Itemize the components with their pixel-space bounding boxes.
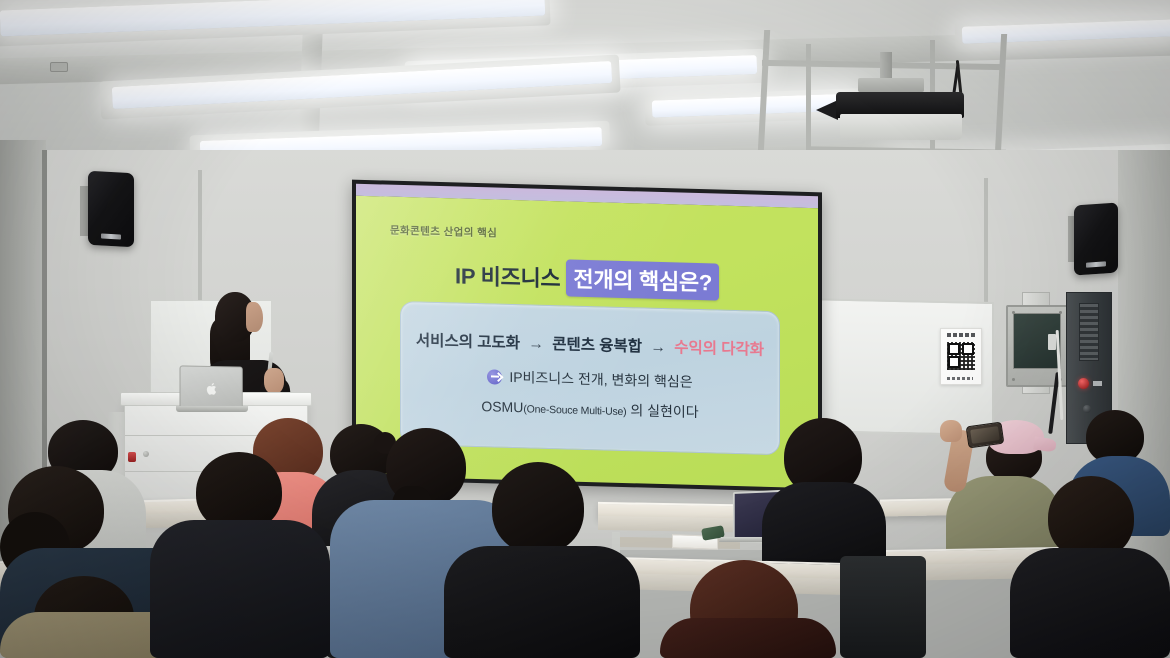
- slide-kicker-text: 문화콘텐츠 산업의 핵심: [390, 223, 497, 241]
- slide-title-plain: IP 비즈니스: [455, 263, 560, 291]
- panel-handle[interactable]: [50, 62, 68, 72]
- panel-screw-icon: [1059, 311, 1062, 314]
- ceiling-rail: [806, 44, 811, 154]
- hand-holding-phone: [940, 420, 962, 442]
- chair-back: [840, 556, 926, 658]
- panel-screw-icon: [1012, 378, 1015, 381]
- power-led-icon: [1078, 378, 1089, 389]
- flow-arrow-1-icon: →: [524, 335, 548, 353]
- wall-speaker-right: [1074, 202, 1118, 275]
- osmu-acronym: OSMU: [481, 398, 523, 415]
- qr-code-poster: [940, 328, 982, 385]
- attendee-torso: [660, 618, 836, 658]
- apple-logo-icon: [206, 382, 218, 396]
- rack-knob[interactable]: [1083, 405, 1091, 413]
- slide-title: IP 비즈니스전개의 핵심은?: [356, 254, 818, 304]
- slide-content-box: 서비스의 고도화 → 콘텐츠 융복합 → 수익의 다각화 IP비즈니스 전개, …: [400, 301, 780, 455]
- speaker-badge-icon: [1086, 261, 1106, 267]
- qr-finder-icon: [948, 343, 960, 355]
- presenter-laptop[interactable]: [179, 365, 242, 410]
- podium-knob[interactable]: [143, 451, 149, 457]
- presenter-hand: [264, 368, 284, 394]
- poster-caption-text: [947, 377, 973, 380]
- circle-arrow-right-icon: [487, 369, 502, 384]
- osmu-expansion: (One-Souce Multi-Use): [523, 403, 626, 418]
- rack-vent: [1079, 303, 1099, 361]
- osmu-tail: 의 실현이다: [630, 402, 698, 420]
- rack-label: [1093, 381, 1102, 386]
- flow-part-3: 수익의 다각화: [674, 339, 764, 358]
- slide-osmu-line: OSMU(One-Souce Multi-Use) 의 실현이다: [401, 394, 779, 424]
- slide-bullet-text: IP비즈니스 전개, 변화의 핵심은: [509, 369, 692, 390]
- speaker-bracket: [80, 186, 88, 236]
- podium-indicator-icon: [128, 452, 136, 462]
- presenter-laptop-base: [176, 406, 248, 412]
- presenter-face: [246, 302, 263, 332]
- wall-speaker-left: [88, 171, 134, 247]
- flow-part-2: 콘텐츠 융복합: [552, 336, 642, 355]
- projector-arm: [858, 78, 924, 92]
- poster-title-text: [947, 333, 975, 337]
- attendee-torso: [444, 546, 640, 658]
- slide-title-highlight: 전개의 핵심은?: [566, 259, 719, 300]
- attendee-torso: [150, 520, 330, 658]
- panel-window: [1013, 313, 1061, 369]
- panel-screw-icon: [1012, 311, 1015, 314]
- lecture-hall-photo: 문화콘텐츠 산업의 핵심 IP 비즈니스전개의 핵심은? 서비스의 고도화 → …: [0, 0, 1170, 658]
- qr-finder-icon: [948, 356, 960, 368]
- flow-arrow-2-icon: →: [646, 339, 670, 357]
- slide-bullet-line: IP비즈니스 전개, 변화의 핵심은: [401, 364, 779, 394]
- projector-wedge: [816, 100, 838, 120]
- phone-screen: [970, 426, 1000, 444]
- speaker-badge-icon: [101, 233, 121, 239]
- attendee-torso: [1010, 548, 1170, 658]
- attendee-hair: [492, 462, 584, 554]
- qr-finder-icon: [962, 343, 974, 355]
- slide-flow-line: 서비스의 고도화 → 콘텐츠 융복합 → 수익의 다각화: [401, 328, 779, 360]
- panel-switch[interactable]: [1048, 334, 1056, 350]
- projector-lens-housing: [840, 114, 962, 140]
- flow-part-1: 서비스의 고도화: [416, 332, 520, 352]
